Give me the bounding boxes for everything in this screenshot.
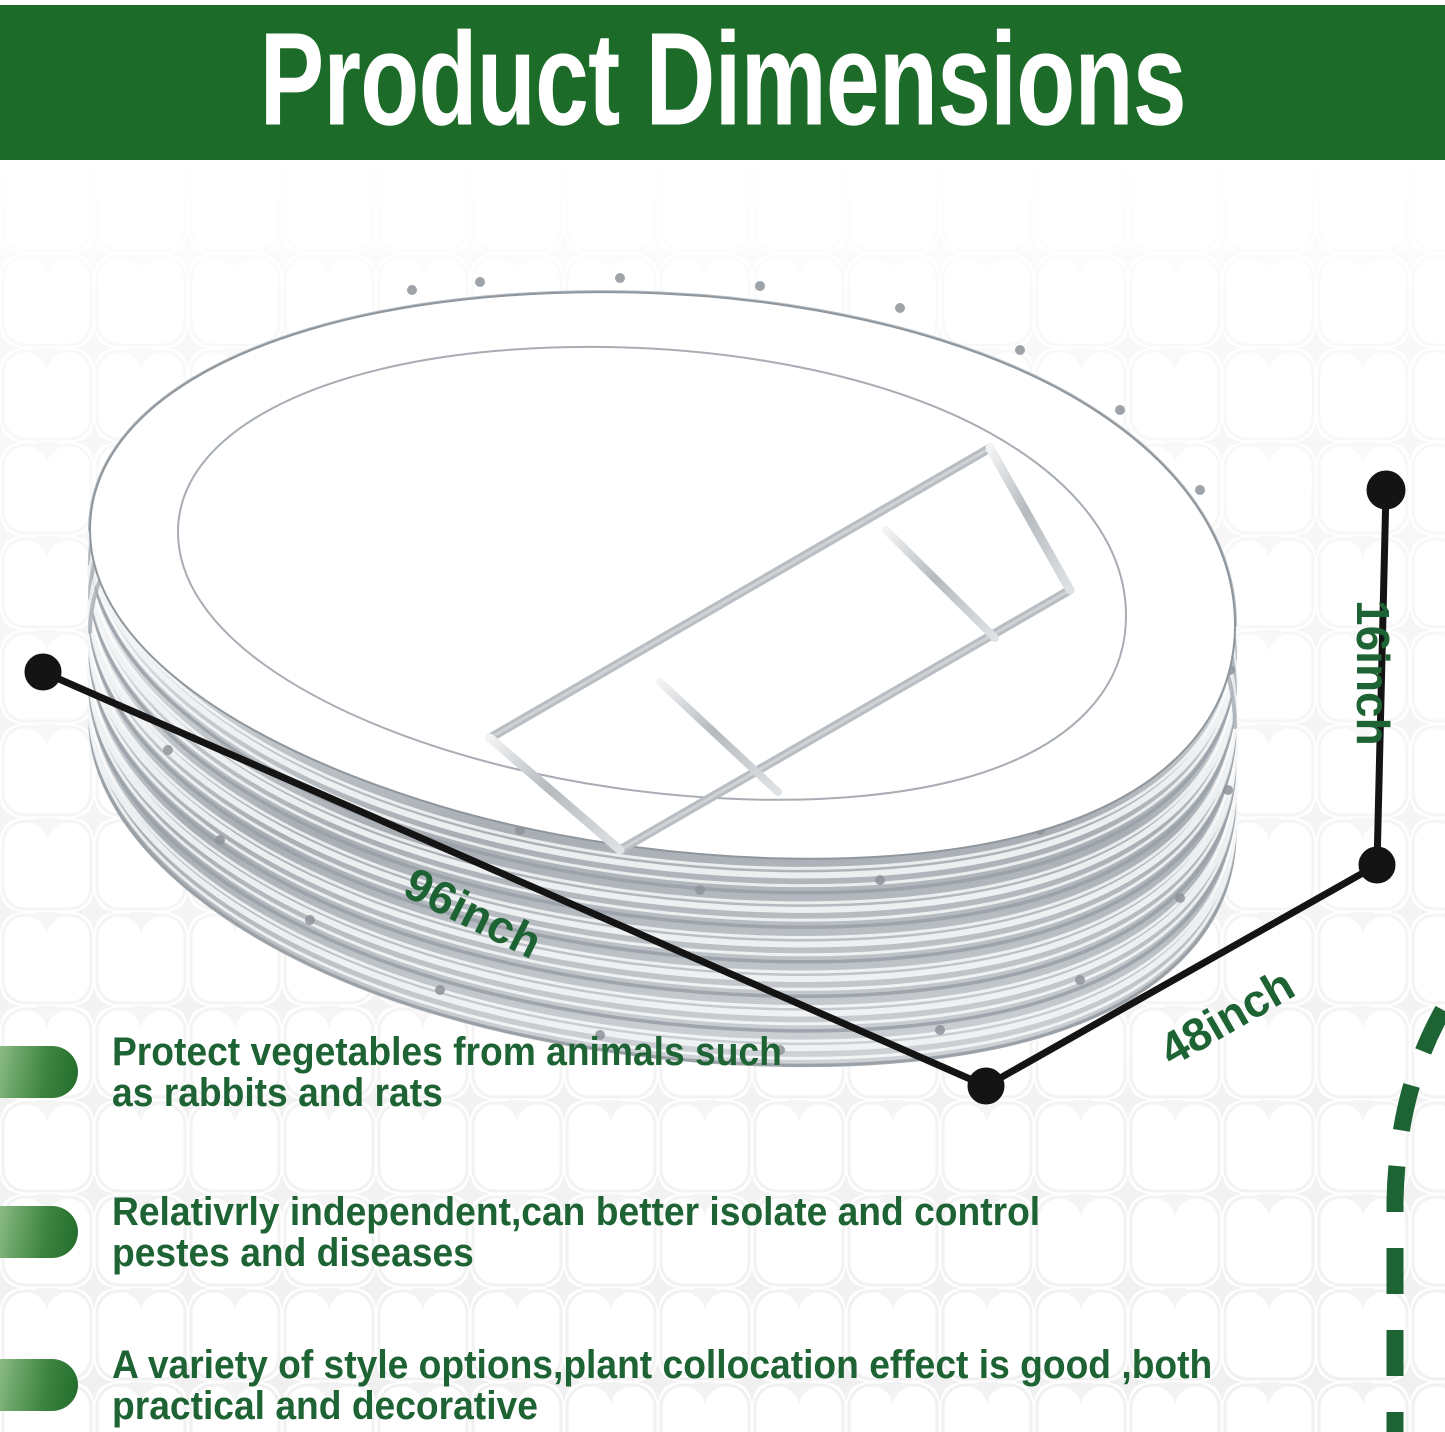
- bullet-pill-icon: [0, 1206, 78, 1258]
- bullet-pill-icon: [0, 1359, 78, 1411]
- dimension-label-height: 16inch: [1346, 600, 1400, 746]
- feature-text: A variety of style options,plant colloca…: [112, 1345, 1212, 1427]
- header-banner: Product Dimensions: [0, 5, 1445, 160]
- list-item: Protect vegetables from animals such as …: [0, 1032, 832, 1114]
- list-item: A variety of style options,plant colloca…: [0, 1345, 1295, 1427]
- product-dimensions-infographic: Product Dimensions: [0, 0, 1445, 1432]
- page-title: Product Dimensions: [259, 13, 1185, 152]
- feature-text: Protect vegetables from animals such as …: [112, 1032, 782, 1114]
- bullet-pill-icon: [0, 1046, 78, 1098]
- feature-text: Relativrly independent,can better isolat…: [112, 1192, 1040, 1274]
- raised-garden-bed-illustration: [40, 200, 1400, 1100]
- list-item: Relativrly independent,can better isolat…: [0, 1192, 1110, 1274]
